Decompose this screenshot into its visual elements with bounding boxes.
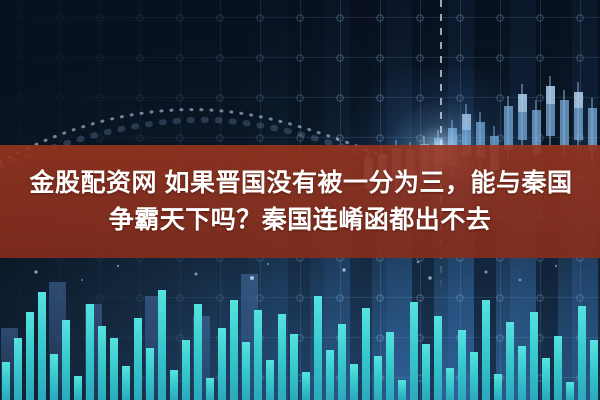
headline-line-2: 争霸天下吗？秦国连崤函都出不去 [109,204,492,237]
headline-band: 金股配资网 如果晋国没有被一分为三，能与秦国 争霸天下吗？秦国连崤函都出不去 [0,145,600,258]
headline-line-1: 金股配资网 如果晋国没有被一分为三，能与秦国 [28,167,573,200]
banner-image: 金股配资网 如果晋国没有被一分为三，能与秦国 争霸天下吗？秦国连崤函都出不去 [0,0,600,400]
